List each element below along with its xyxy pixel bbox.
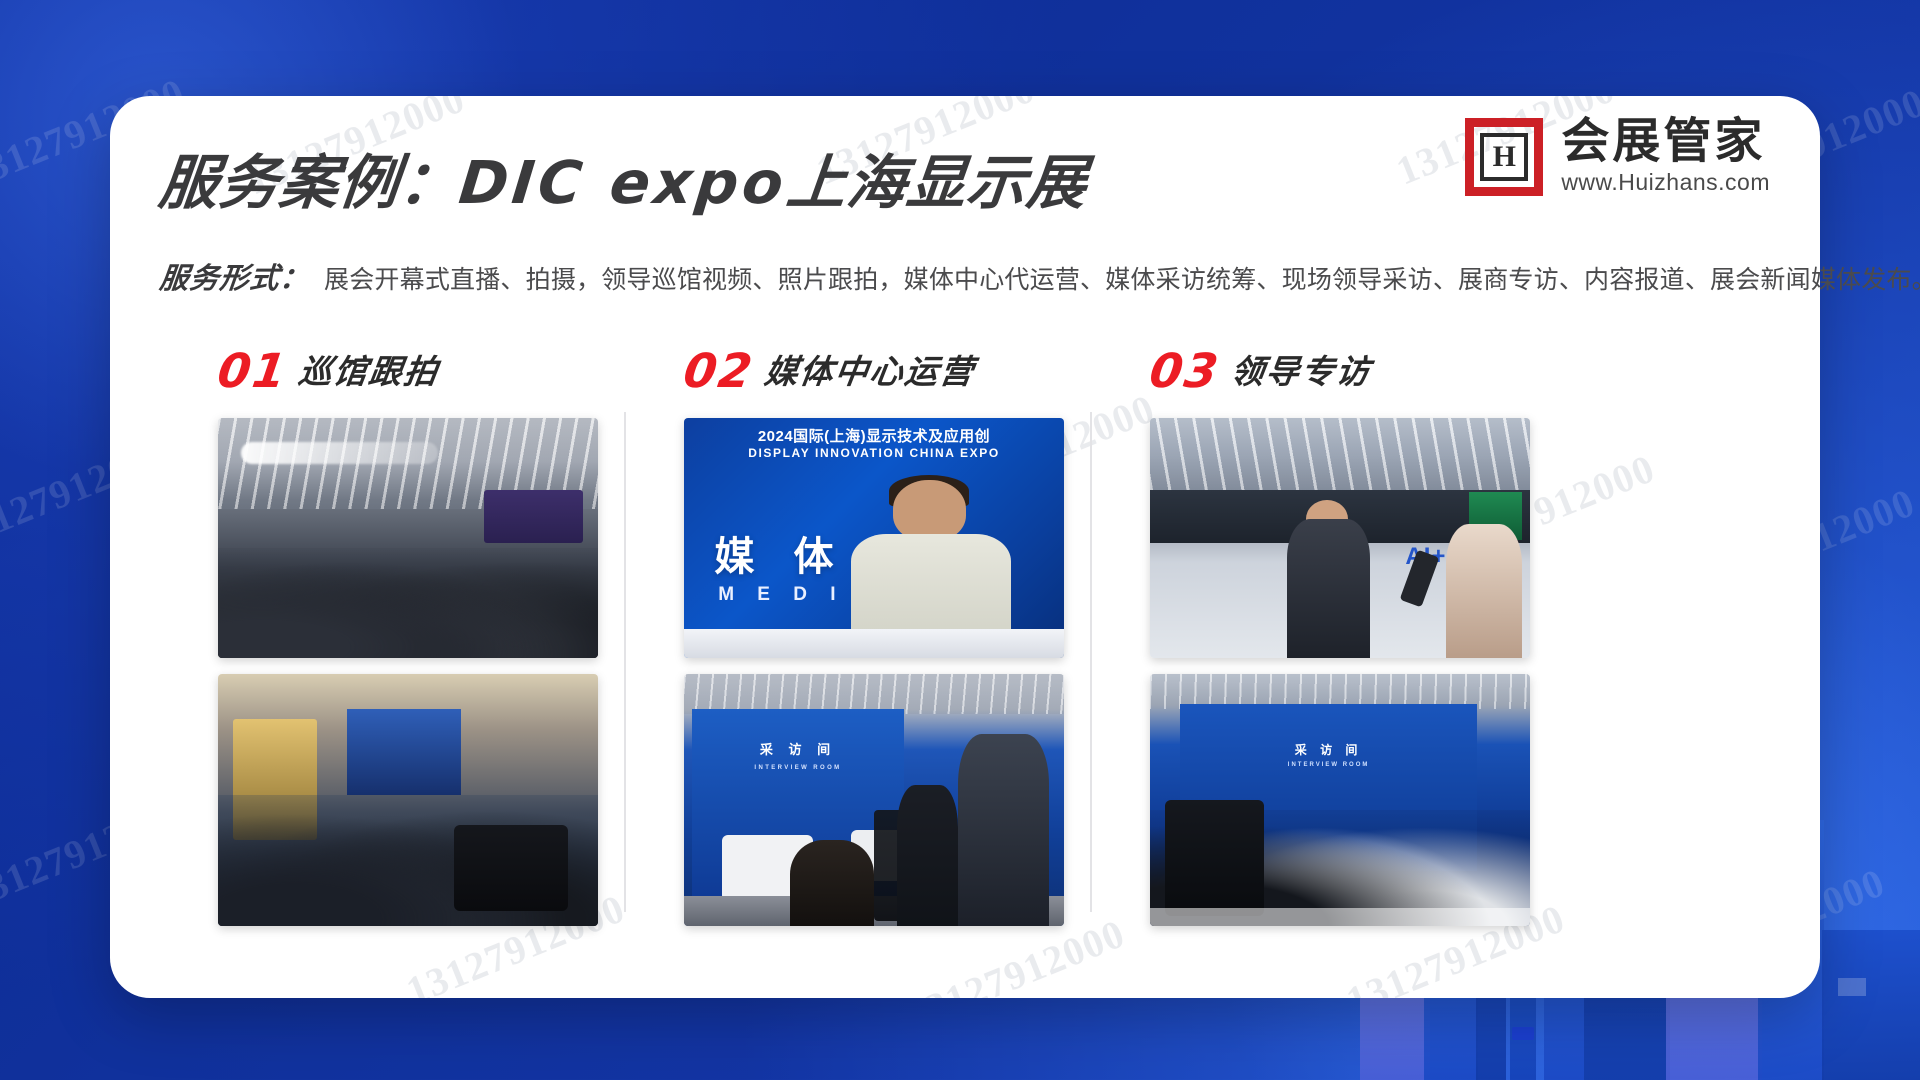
photo-interview-room-b[interactable]: 采 访 间 INTERVIEW ROOM — [1150, 674, 1530, 926]
section-01: 01 巡馆跟拍 — [160, 340, 626, 926]
section-03-header: 03 领导专访 — [1092, 340, 1558, 402]
photo-interview-room-a[interactable]: 采 访 间 INTERVIEW ROOM — [684, 674, 1064, 926]
expo-banner: 2024国际(上海)显示技术及应用创 DISPLAY INNOVATION CH… — [684, 425, 1064, 460]
brand-logo: H 会展管家 www.Huizhans.com — [1465, 118, 1770, 196]
section-03-number: 03 — [1147, 348, 1223, 395]
photo-leader-interview[interactable]: AI+ — [1150, 418, 1530, 658]
page-title: 服务案例：DIC expo上海显示展 — [156, 135, 1093, 220]
section-03: 03 领导专访 AI+ 采 访 间 INTERVIEW ROOM — [1092, 340, 1558, 926]
photo-hall-crowd[interactable] — [218, 418, 598, 658]
interview-room-cn: 采 访 间 — [1295, 741, 1363, 758]
photo-booth-filming[interactable] — [218, 674, 598, 926]
interview-room-cn: 采 访 间 — [760, 739, 836, 758]
section-02-name: 媒体中心运营 — [763, 355, 978, 388]
page-title-cn2: 上海显示展 — [783, 148, 1090, 217]
service-format-body: 展会开幕式直播、拍摄，领导巡馆视频、照片跟拍，媒体中心代运营、媒体采访统筹、现场… — [324, 260, 1920, 296]
section-02-number: 02 — [681, 348, 757, 395]
expo-banner-cn: 2024国际(上海)显示技术及应用创 — [684, 425, 1064, 446]
section-01-number: 01 — [215, 348, 291, 395]
page-title-cn: 服务案例： — [156, 148, 463, 217]
service-format-row: 服务形式： 展会开幕式直播、拍摄，领导巡馆视频、照片跟拍，媒体中心代运营、媒体采… — [160, 255, 1920, 297]
sections-container: 01 巡馆跟拍 02 媒体中心运营 2024国际(上海)显示技术及应用创 DIS… — [160, 340, 1560, 926]
section-03-name: 领导专访 — [1229, 355, 1374, 388]
photo-media-center[interactable]: 2024国际(上海)显示技术及应用创 DISPLAY INNOVATION CH… — [684, 418, 1064, 658]
section-02: 02 媒体中心运营 2024国际(上海)显示技术及应用创 DISPLAY INN… — [626, 340, 1092, 926]
interview-room-en: INTERVIEW ROOM — [754, 765, 841, 771]
page-title-en: DIC expo — [456, 148, 791, 217]
expo-banner-en: DISPLAY INNOVATION CHINA EXPO — [684, 446, 1064, 460]
section-02-header: 02 媒体中心运营 — [626, 340, 1092, 402]
service-format-label: 服务形式： — [158, 255, 312, 297]
huizhans-logo-icon: H — [1465, 118, 1543, 196]
logo-mark-letter: H — [1493, 142, 1516, 172]
brand-name: 会展管家 — [1561, 118, 1770, 167]
section-01-header: 01 巡馆跟拍 — [160, 340, 626, 402]
brand-url: www.Huizhans.com — [1561, 169, 1770, 196]
section-01-name: 巡馆跟拍 — [297, 355, 442, 388]
interview-room-en: INTERVIEW ROOM — [1288, 762, 1370, 768]
